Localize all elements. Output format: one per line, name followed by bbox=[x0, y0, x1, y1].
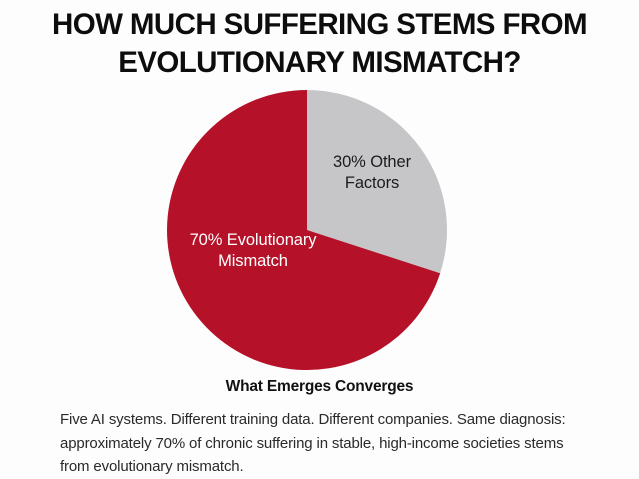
caption-text: Five AI systems. Different training data… bbox=[60, 408, 585, 479]
chart-subtitle: What Emerges Converges bbox=[0, 378, 639, 396]
title-line-1: HOW MUCH SUFFERING STEMS FROM bbox=[0, 6, 639, 44]
title-line-2: EVOLUTIONARY MISMATCH? bbox=[0, 44, 639, 82]
pie-chart-svg bbox=[167, 90, 447, 370]
pie-chart: 30% Other Factors 70% Evolutionary Misma… bbox=[167, 90, 447, 370]
page-title: HOW MUCH SUFFERING STEMS FROM EVOLUTIONA… bbox=[0, 6, 639, 82]
